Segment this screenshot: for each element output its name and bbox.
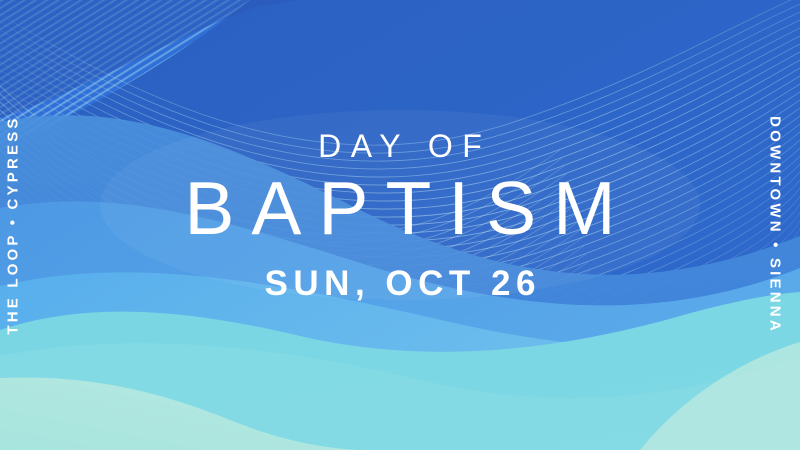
- headline-glow: [100, 110, 700, 300]
- campus-label-left: THE LOOP • CYPRESS: [6, 115, 21, 334]
- campus-label-right: DOWNTOWN • SIENNA: [768, 116, 783, 334]
- background-artwork: [0, 0, 800, 450]
- baptism-event-graphic: DAY OF BAPTISM SUN, OCT 26 THE LOOP • CY…: [0, 0, 800, 450]
